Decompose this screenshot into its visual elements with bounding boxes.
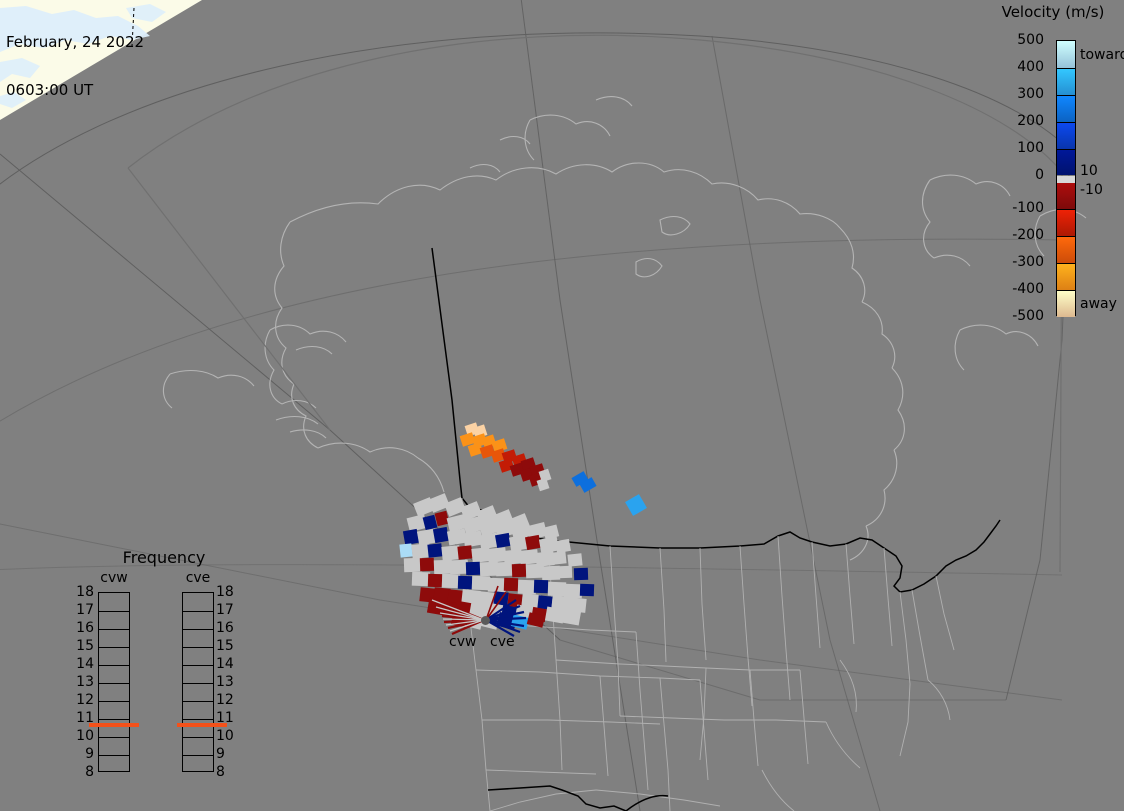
velocity-colorbar-bands <box>1056 40 1076 316</box>
velocity-cell <box>427 543 442 557</box>
frequency-scale-box-cvw <box>98 592 130 772</box>
velocity-tick--500: -500 <box>1012 308 1044 324</box>
frequency-column-cvw: cvw 18171615141312111098 <box>84 570 144 775</box>
timestamp-date: February, 24 2022 <box>6 34 144 50</box>
velocity-cell <box>574 568 588 580</box>
velocity-cell <box>428 574 442 587</box>
frequency-grid-line <box>183 647 213 648</box>
frequency-tick-18: 18 <box>60 584 94 600</box>
frequency-tick-13: 13 <box>216 674 250 690</box>
velocity-label-away: away <box>1080 296 1117 312</box>
frequency-grid-line <box>183 719 213 720</box>
frequency-grid-line <box>99 719 129 720</box>
superdarn-map-view: February, 24 2022 0603:00 UT cvw cve Vel… <box>0 0 1124 811</box>
frequency-grid-line <box>99 629 129 630</box>
frequency-tick-15: 15 <box>60 638 94 654</box>
velocity-tick--300: -300 <box>1012 254 1044 270</box>
velocity-cell <box>420 558 434 571</box>
velocity-tick--200: -200 <box>1012 227 1044 243</box>
velocity-band-300 <box>1057 95 1075 122</box>
frequency-scale-box-cve <box>182 592 214 772</box>
velocity-band--300 <box>1057 236 1075 263</box>
velocity-label-inner-upper: 10 <box>1080 163 1098 179</box>
frequency-tick-16: 16 <box>216 620 250 636</box>
velocity-cell <box>564 584 582 599</box>
frequency-tick-12: 12 <box>60 692 94 708</box>
frequency-grid-line <box>99 647 129 648</box>
frequency-marker-cvw <box>89 723 139 727</box>
velocity-cell <box>525 535 541 550</box>
frequency-tick-13: 13 <box>60 674 94 690</box>
velocity-cell <box>580 584 594 596</box>
velocity-tick--400: -400 <box>1012 281 1044 297</box>
velocity-label-inner-lower: -10 <box>1080 182 1103 198</box>
velocity-side-labels: toward10-10away <box>1080 0 1124 340</box>
velocity-cell <box>512 564 526 577</box>
velocity-tick-200: 200 <box>1017 113 1044 129</box>
frequency-tick-8: 8 <box>216 764 250 780</box>
velocity-cell <box>450 560 468 575</box>
velocity-band-200 <box>1057 122 1075 149</box>
velocity-band-500 <box>1057 41 1075 68</box>
frequency-grid-line <box>99 737 129 738</box>
velocity-cell <box>551 551 566 564</box>
velocity-cell <box>433 527 449 543</box>
velocity-cell <box>548 582 566 597</box>
velocity-tick-labels: 5004003002001000-100-200-300-400-500 <box>975 0 1050 340</box>
velocity-cell <box>403 529 419 545</box>
timestamp-time: 0603:00 UT <box>6 82 144 98</box>
frequency-grid-line <box>99 755 129 756</box>
velocity-band-400 <box>1057 68 1075 95</box>
velocity-tick--100: -100 <box>1012 200 1044 216</box>
velocity-tick-300: 300 <box>1017 86 1044 102</box>
velocity-label-toward: toward <box>1080 47 1124 63</box>
velocity-cell <box>555 539 571 553</box>
velocity-band--400 <box>1057 263 1075 290</box>
velocity-cell <box>404 558 422 573</box>
frequency-tick-14: 14 <box>216 656 250 672</box>
velocity-cell <box>567 553 582 566</box>
velocity-cell <box>496 562 514 577</box>
frequency-tick-14: 14 <box>60 656 94 672</box>
velocity-cell <box>434 560 452 575</box>
velocity-cell <box>495 533 511 548</box>
frequency-grid-line <box>183 701 213 702</box>
velocity-tick-500: 500 <box>1017 32 1044 48</box>
frequency-tick-10: 10 <box>60 728 94 744</box>
velocity-cell <box>442 574 460 589</box>
velocity-band--200 <box>1057 209 1075 236</box>
velocity-cell <box>466 562 480 575</box>
velocity-tick-100: 100 <box>1017 140 1044 156</box>
frequency-grid-line <box>99 683 129 684</box>
velocity-cell <box>399 543 412 557</box>
frequency-tick-12: 12 <box>216 692 250 708</box>
radar-site-label-cve: cve <box>490 634 515 650</box>
velocity-cell <box>558 566 572 578</box>
velocity-cell <box>472 576 490 591</box>
velocity-cell <box>412 572 430 587</box>
frequency-tick-10: 10 <box>216 728 250 744</box>
frequency-grid-line <box>183 611 213 612</box>
frequency-grid-line <box>99 611 129 612</box>
frequency-tick-18: 18 <box>216 584 250 600</box>
frequency-tick-17: 17 <box>216 602 250 618</box>
frequency-tick-15: 15 <box>216 638 250 654</box>
velocity-band--100 <box>1057 183 1075 210</box>
velocity-cell <box>542 566 560 581</box>
frequency-legend: Frequency cvw 18171615141312111098 cve 1… <box>84 548 244 778</box>
frequency-grid-line <box>99 701 129 702</box>
radar-site-label-cvw: cvw <box>449 634 476 650</box>
velocity-cell <box>457 545 472 559</box>
frequency-grid-line <box>183 629 213 630</box>
velocity-cell <box>480 562 498 577</box>
frequency-grid-line <box>99 665 129 666</box>
velocity-tick-400: 400 <box>1017 59 1044 75</box>
frequency-tick-17: 17 <box>60 602 94 618</box>
velocity-colorbar: Velocity (m/s) 5004003002001000-100-200-… <box>975 0 1124 340</box>
velocity-band--500 <box>1057 290 1075 317</box>
frequency-tick-16: 16 <box>60 620 94 636</box>
velocity-band-zero-gap <box>1057 176 1075 183</box>
frequency-tick-9: 9 <box>216 746 250 762</box>
velocity-tick-0: 0 <box>1035 167 1044 183</box>
velocity-cell <box>458 576 472 589</box>
radar-site-dot <box>481 616 490 625</box>
velocity-cell <box>518 580 536 595</box>
velocity-band-100 <box>1057 149 1075 176</box>
frequency-grid-line <box>183 665 213 666</box>
velocity-cell <box>526 564 544 579</box>
frequency-tick-9: 9 <box>60 746 94 762</box>
velocity-cell <box>504 578 518 591</box>
frequency-grid-line <box>183 683 213 684</box>
timestamp-block: February, 24 2022 0603:00 UT <box>6 2 144 130</box>
frequency-tick-8: 8 <box>60 764 94 780</box>
frequency-legend-title: Frequency <box>84 548 244 567</box>
frequency-grid-line <box>183 755 213 756</box>
frequency-column-cve: cve 18171615141312111098 <box>168 570 228 775</box>
frequency-grid-line <box>183 737 213 738</box>
frequency-marker-cve <box>177 723 227 727</box>
velocity-cell <box>534 580 548 593</box>
